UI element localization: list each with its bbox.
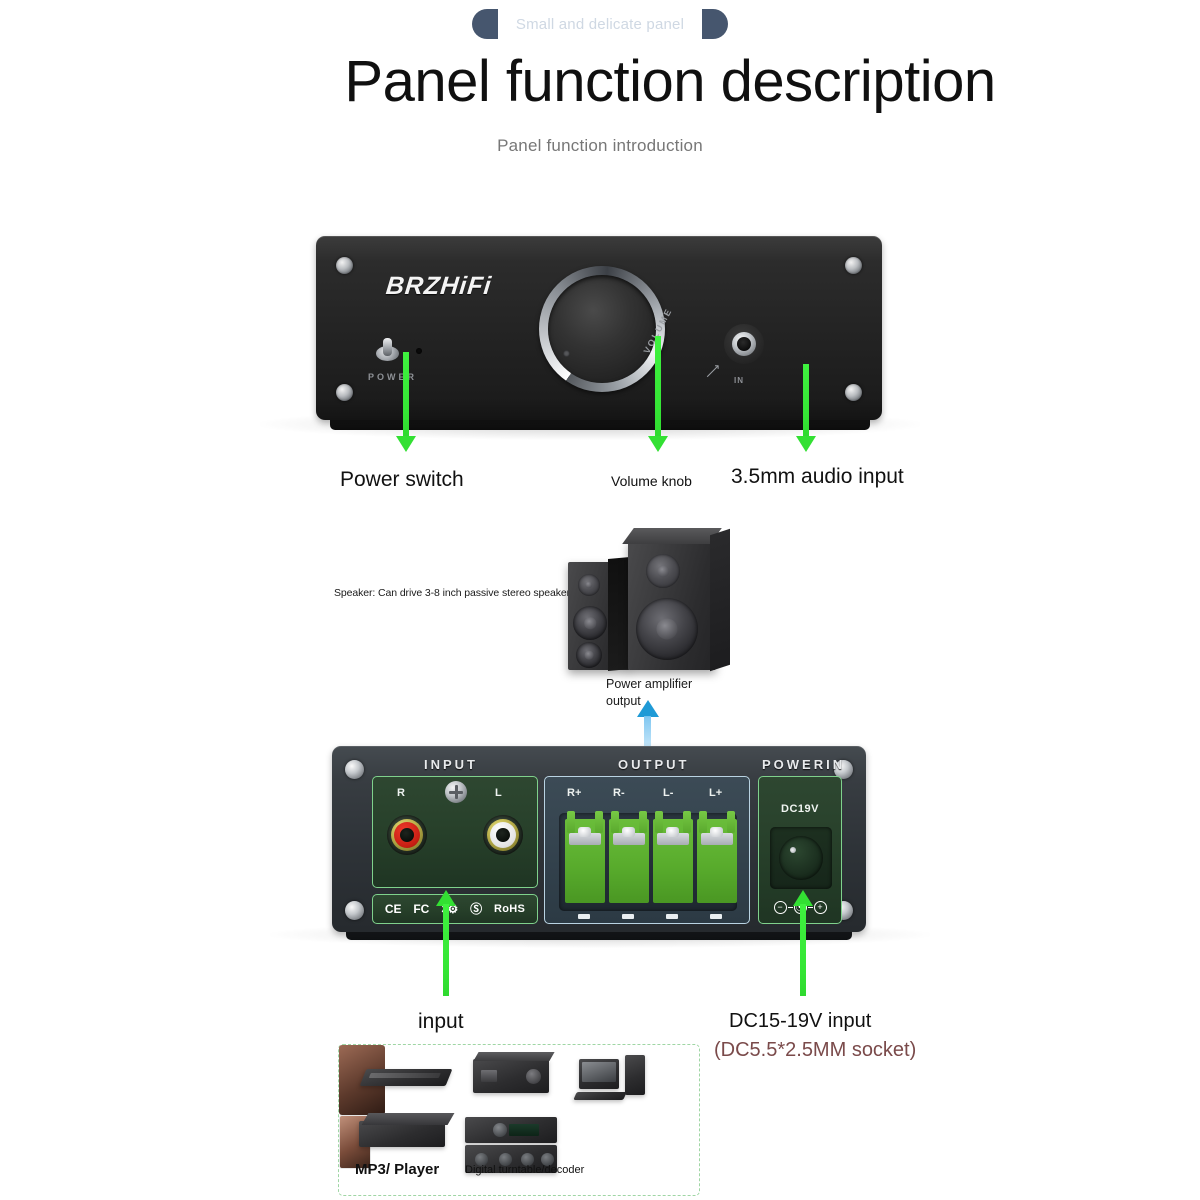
input-zone: R L xyxy=(372,776,538,888)
audio-jack-35mm[interactable] xyxy=(724,324,764,364)
infographic-page: Small and delicate panel Panel function … xyxy=(0,0,1200,1200)
callout-arrow-volume xyxy=(648,336,668,452)
callout-arrow-dc-input xyxy=(793,890,813,996)
jack-in-silkscreen-label: IN xyxy=(734,376,744,385)
section-label-powerin: POWERIN xyxy=(762,757,845,772)
woofer-icon xyxy=(576,642,602,668)
volume-knob[interactable] xyxy=(539,266,665,392)
callout-dc-socket-label: (DC5.5*2.5MM socket) xyxy=(714,1039,916,1062)
rca-jack-left[interactable] xyxy=(483,815,523,855)
badge-label: Small and delicate panel xyxy=(498,16,702,33)
pc-monitor-image xyxy=(579,1059,619,1089)
bluray-player-image xyxy=(360,1069,453,1086)
speaker-right-side xyxy=(710,529,730,671)
callout-audio-input: 3.5mm audio input xyxy=(731,465,904,489)
callout-arrow-audio-input xyxy=(796,364,816,452)
dc-center-pin-icon xyxy=(790,847,796,853)
ce-mark-icon: CE xyxy=(385,903,402,915)
dc-voltage-label: DC19V xyxy=(759,803,841,815)
amp-output-line1: Power amplifier xyxy=(606,676,692,693)
callout-arrow-input xyxy=(436,890,456,996)
speaker-capability-note: Speaker: Can drive 3-8 inch passive ster… xyxy=(334,587,570,599)
screw-icon xyxy=(336,257,353,274)
compatible-devices-gallery: MP3/ Player Digital turntable/decoder xyxy=(338,1044,700,1196)
laptop-image xyxy=(359,1121,445,1147)
header-badge: Small and delicate panel xyxy=(472,6,728,42)
callout-input-label: input xyxy=(418,1010,464,1034)
knob-indicator-dot-icon xyxy=(563,350,570,357)
jack-hole-icon xyxy=(737,337,751,351)
rca-jack-right[interactable] xyxy=(387,815,427,855)
dc-barrel-icon xyxy=(779,836,823,880)
speaker-pair-image xyxy=(566,534,728,676)
screw-icon xyxy=(345,760,364,779)
terminal-label-l-minus: L- xyxy=(663,787,673,799)
callout-arrow-output-blue xyxy=(637,700,659,748)
rear-panel-body: INPUT OUTPUT POWERIN R L CE FC xyxy=(332,746,866,932)
screw-icon xyxy=(336,384,353,401)
power-led-icon xyxy=(416,348,422,354)
speaker-right xyxy=(628,540,716,670)
callout-power-switch: Power switch xyxy=(340,468,464,492)
speaker-right-top xyxy=(622,528,722,544)
switch-bat-icon xyxy=(383,338,392,356)
speaker-left xyxy=(568,562,630,670)
screw-icon xyxy=(845,384,862,401)
badge-cap-left-icon xyxy=(472,9,498,39)
tweeter-icon xyxy=(578,574,600,596)
terminal-l-minus[interactable] xyxy=(653,819,693,903)
woofer-icon xyxy=(573,606,607,640)
page-title: Panel function description xyxy=(0,48,1200,115)
fcc-mark-icon: FC xyxy=(413,903,429,915)
output-zone: R+ R- L- L+ xyxy=(544,776,750,924)
gallery-label-mp3: MP3/ Player xyxy=(355,1161,439,1178)
dc-barrel-jack[interactable] xyxy=(770,827,832,889)
cert-circle-icon: Ⓢ xyxy=(470,903,482,915)
turntable-decoder-top-image xyxy=(465,1117,557,1143)
screw-icon xyxy=(345,901,364,920)
terminal-r-plus[interactable] xyxy=(565,819,605,903)
section-label-input: INPUT xyxy=(424,757,478,772)
rohs-mark-label: RoHS xyxy=(494,904,525,915)
speaker-left-side xyxy=(608,557,630,671)
badge-cap-right-icon xyxy=(702,9,728,39)
dac-unit-image xyxy=(473,1059,549,1093)
tweeter-icon xyxy=(646,554,680,588)
knob-face xyxy=(548,275,656,383)
rca-label-left: L xyxy=(495,787,502,799)
terminal-label-r-plus: R+ xyxy=(567,787,581,799)
section-label-output: OUTPUT xyxy=(618,757,689,772)
rca-label-right: R xyxy=(397,787,405,799)
pc-keyboard-image xyxy=(573,1092,627,1100)
terminal-label-l-plus: L+ xyxy=(709,787,722,799)
terminal-label-r-minus: R- xyxy=(613,787,625,799)
terminal-l-plus[interactable] xyxy=(697,819,737,903)
chassis-screw-icon xyxy=(445,781,467,803)
input-direction-arrow-icon: ⟶ xyxy=(702,360,724,382)
brand-logo: BRZHiFi xyxy=(384,272,493,301)
pc-tower-image xyxy=(625,1055,645,1095)
rear-panel-unit: INPUT OUTPUT POWERIN R L CE FC xyxy=(332,746,866,946)
speaker-terminal-block xyxy=(559,813,737,911)
woofer-icon xyxy=(636,598,698,660)
gallery-label-digital: Digital turntable/decoder xyxy=(465,1164,584,1176)
callout-dc-input-label: DC15-19V input xyxy=(729,1010,871,1033)
callout-arrow-power xyxy=(396,352,416,452)
terminal-r-minus[interactable] xyxy=(609,819,649,903)
callout-volume-knob: Volume knob xyxy=(611,473,692,489)
screw-icon xyxy=(845,257,862,274)
page-subtitle: Panel function introduction xyxy=(0,136,1200,156)
